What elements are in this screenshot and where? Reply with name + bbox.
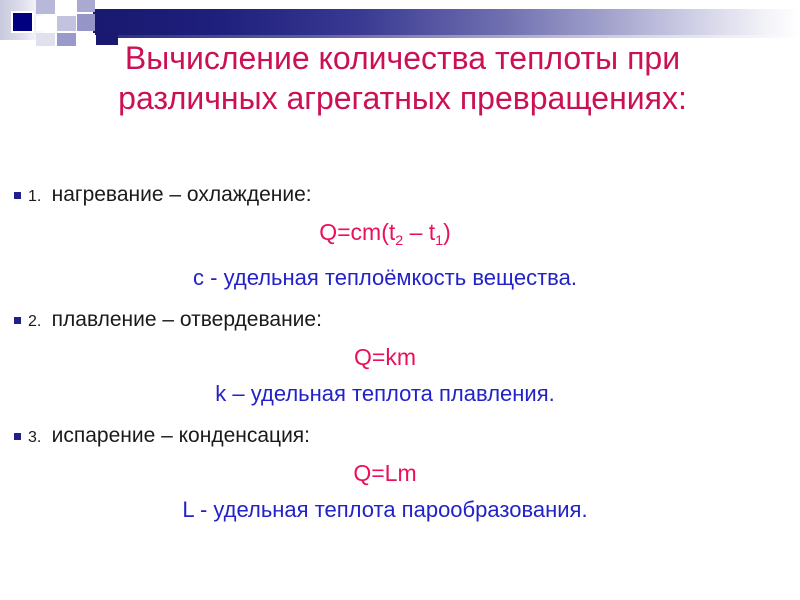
section-vaporization-condensation: 3. испарение – конденсация: Q=Lm L - уде…: [0, 421, 800, 527]
item-number-1: 1.: [28, 188, 46, 205]
definition-2: k – удельная теплота плавления.: [0, 377, 800, 411]
square-bullet-icon: [14, 317, 21, 324]
square-bullet-icon: [14, 433, 21, 440]
formula-1: Q=cm(t2 – t1): [0, 212, 800, 261]
page-title: Вычисление количества теплоты при различ…: [45, 38, 760, 118]
decorative-square-5: [77, 0, 95, 12]
formula-1-mid: – t: [403, 219, 435, 245]
item-number-3: 3.: [28, 429, 46, 446]
square-bullet-icon: [14, 192, 21, 199]
bullet-heading-2: 2. плавление – отвердевание:: [0, 305, 800, 337]
item-number-2: 2.: [28, 313, 46, 330]
item-heading-3: испарение – конденсация:: [52, 424, 310, 447]
definition-3: L - удельная теплота парообразования.: [0, 493, 800, 527]
item-heading-2: плавление – отвердевание:: [52, 308, 322, 331]
formula-3: Q=Lm: [0, 453, 800, 493]
decorative-square-6: [77, 14, 95, 31]
formula-1-sub-1: 1: [435, 233, 443, 249]
gradient-header-band: [93, 9, 800, 35]
decorative-square-3: [36, 16, 55, 31]
bullet-heading-3: 3. испарение – конденсация:: [0, 421, 800, 453]
formula-2: Q=km: [0, 337, 800, 377]
decorative-square-4: [57, 16, 76, 31]
decorative-square-1: [36, 0, 55, 14]
section-heating-cooling: 1. нагревание – охлаждение: Q=cm(t2 – t1…: [0, 180, 800, 295]
decorative-square-2: [57, 0, 76, 14]
formula-1-prefix: Q=cm(t: [319, 219, 395, 245]
formula-1-suffix: ): [443, 219, 451, 245]
content-body: 1. нагревание – охлаждение: Q=cm(t2 – t1…: [0, 180, 800, 531]
section-melting-solidification: 2. плавление – отвердевание: Q=km k – уд…: [0, 305, 800, 411]
bullet-heading-1: 1. нагревание – охлаждение:: [0, 180, 800, 212]
item-heading-1: нагревание – охлаждение:: [52, 183, 312, 206]
definition-1: с - удельная теплоёмкость вещества.: [0, 261, 800, 295]
formula-1-sub-2: 2: [395, 233, 403, 249]
decorative-square-navy-main: [13, 13, 32, 31]
slide-canvas: Вычисление количества теплоты при различ…: [0, 0, 800, 600]
